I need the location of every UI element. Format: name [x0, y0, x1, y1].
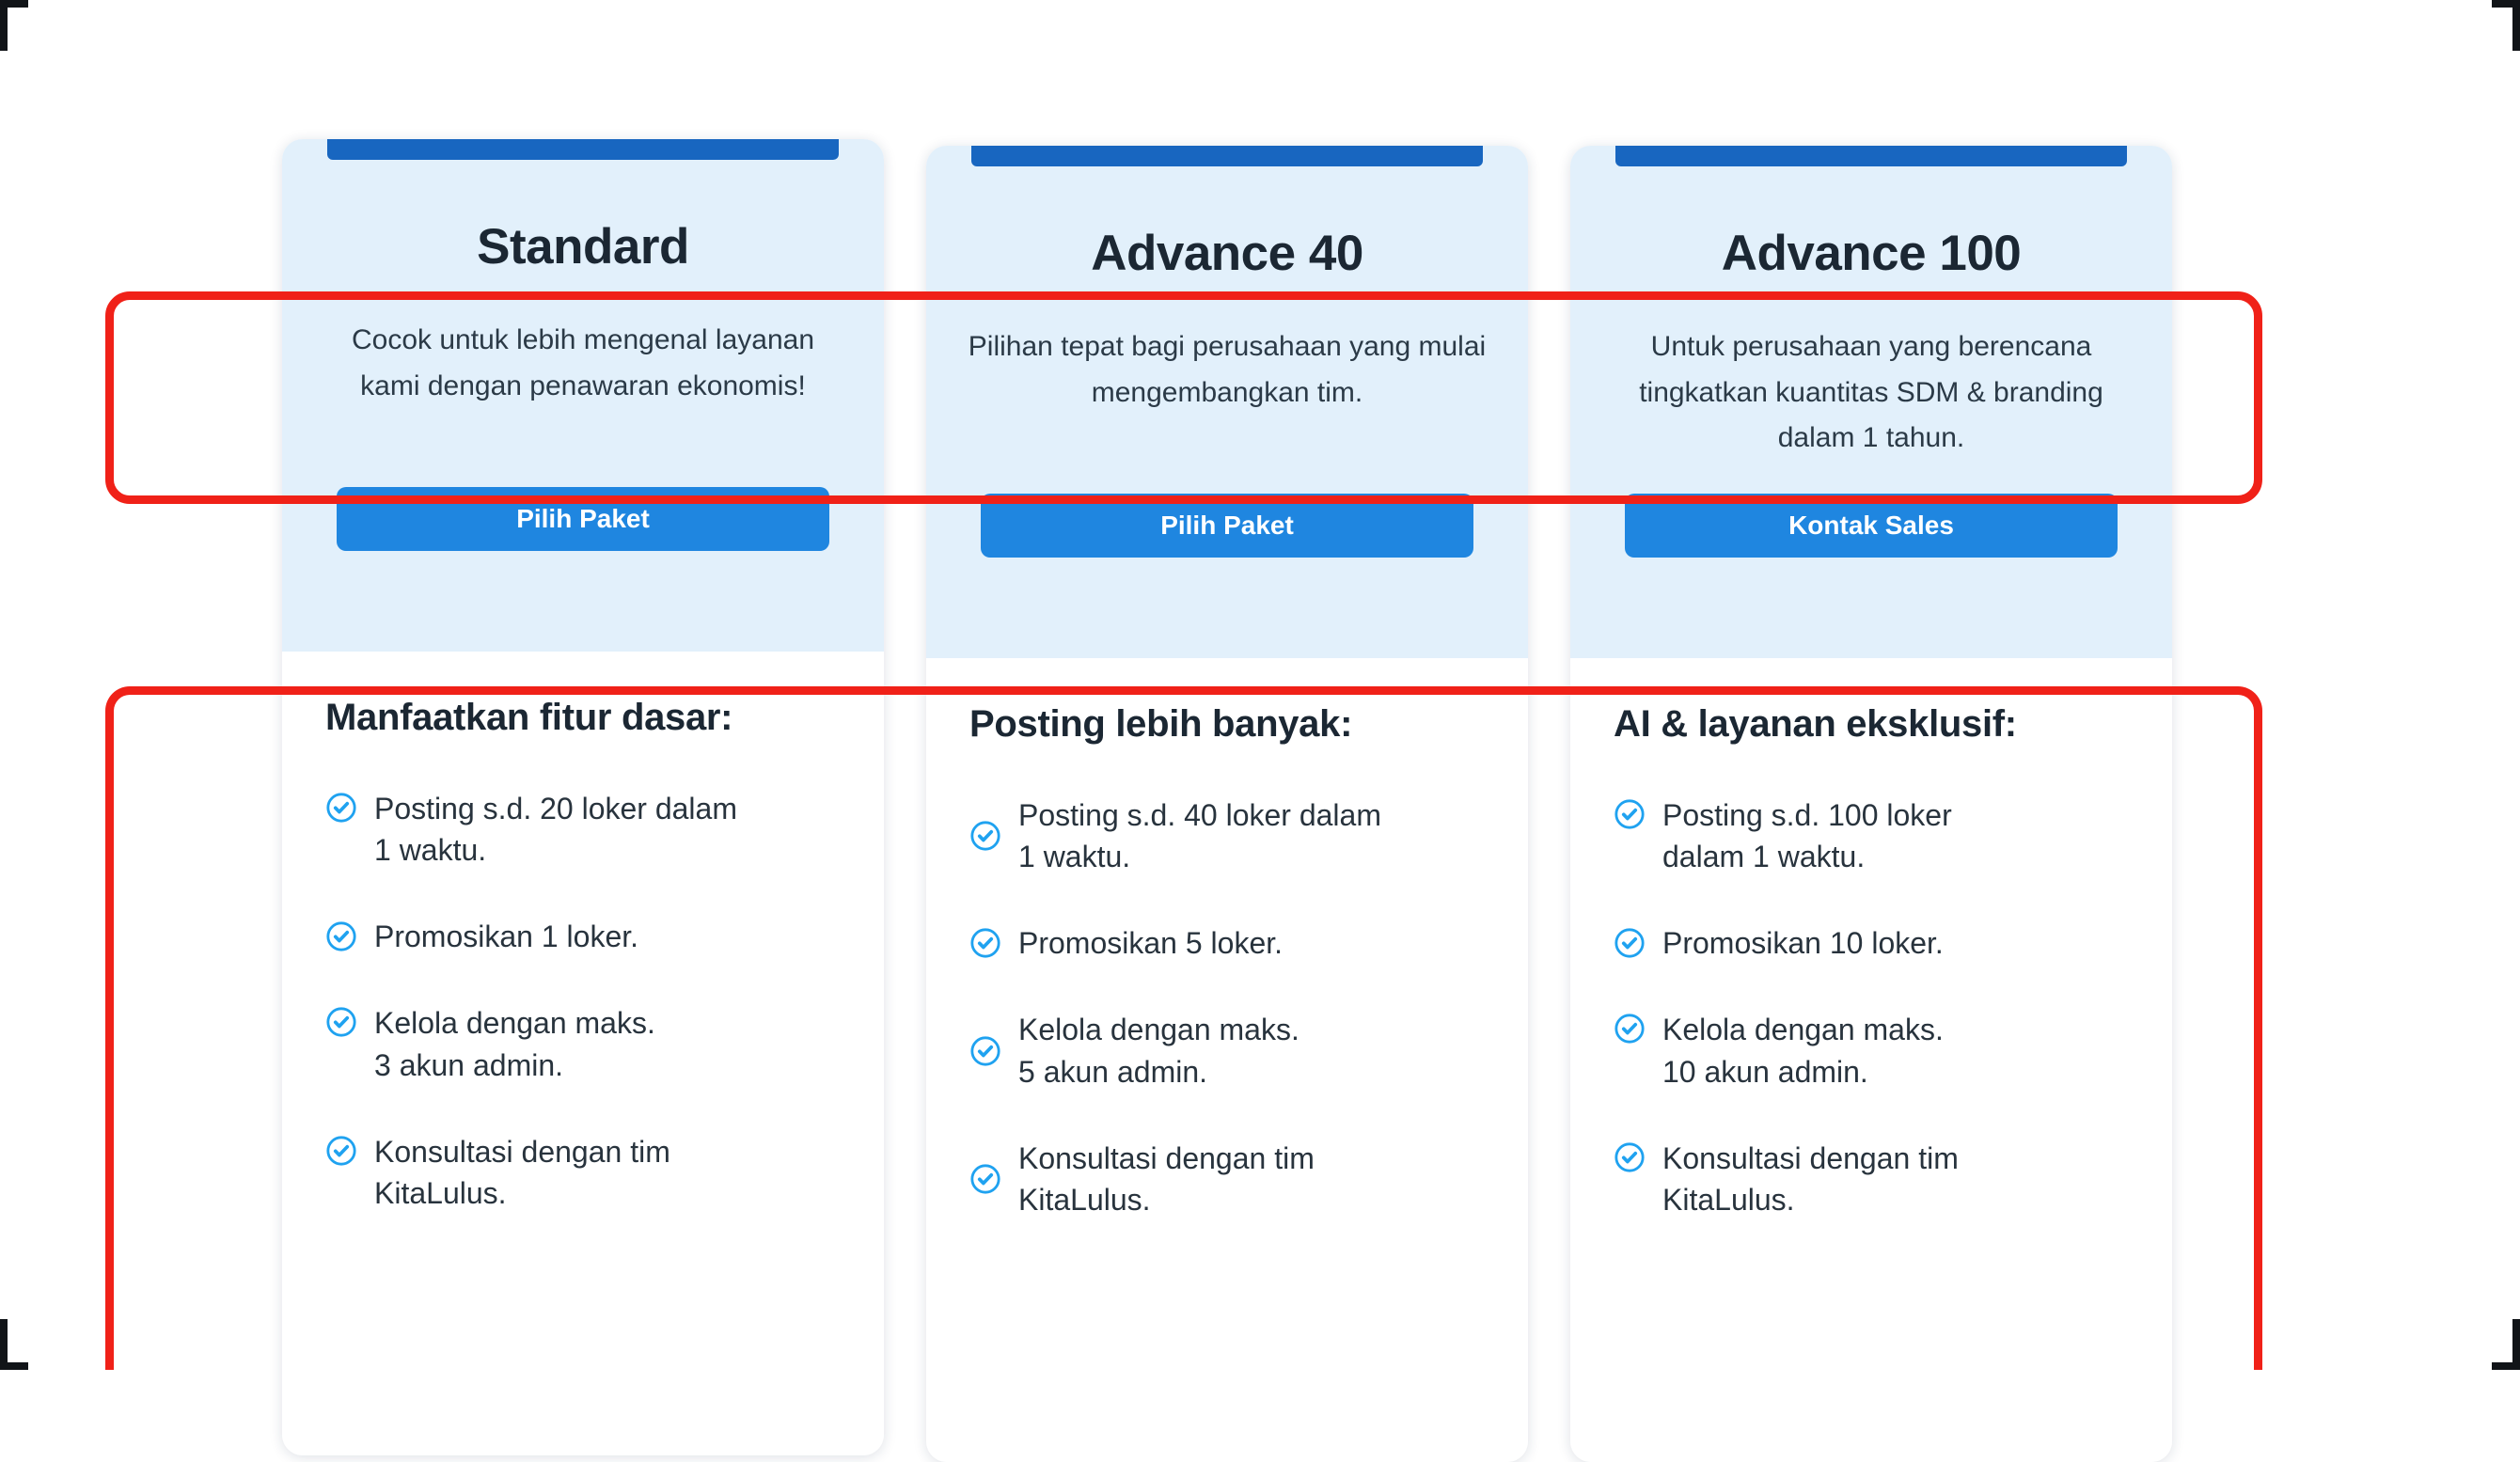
list-item: Posting s.d. 40 loker dalam 1 waktu.	[969, 794, 1485, 877]
list-item-label: Posting s.d. 20 loker dalam 1 waktu.	[374, 788, 737, 871]
plan-title: Advance 100	[1570, 225, 2172, 282]
plan-description: Pilihan tepat bagi perusahaan yang mulai…	[964, 324, 1490, 416]
check-circle-icon	[1614, 1141, 1646, 1173]
check-circle-icon	[325, 1135, 357, 1167]
pricing-plan-deck: Standard Cocok untuk lebih mengenal laya…	[0, 0, 2520, 1370]
list-item-label: Promosikan 1 loker.	[374, 916, 638, 957]
check-circle-icon	[969, 1163, 1001, 1195]
card-top-ribbon	[327, 139, 839, 160]
list-item-label: Kelola dengan maks. 10 akun admin.	[1662, 1009, 1944, 1092]
list-item-label: Konsultasi dengan tim KitaLulus.	[1018, 1138, 1315, 1220]
list-item-label: Promosikan 10 loker.	[1662, 922, 1944, 964]
features-title: Posting lebih banyak:	[969, 703, 1485, 746]
list-item: Promosikan 10 loker.	[1614, 922, 2129, 964]
plan-description: Untuk perusahaan yang berencana tingkatk…	[1608, 324, 2134, 462]
list-item: Posting s.d. 20 loker dalam 1 waktu.	[325, 788, 841, 871]
contact-sales-button[interactable]: Kontak Sales	[1625, 494, 2118, 558]
list-item-label: Konsultasi dengan tim KitaLulus.	[1662, 1138, 1959, 1220]
features-title: AI & layanan eksklusif:	[1614, 703, 2129, 746]
check-circle-icon	[969, 1035, 1001, 1067]
list-item: Konsultasi dengan tim KitaLulus.	[1614, 1138, 2129, 1220]
list-item: Kelola dengan maks. 3 akun admin.	[325, 1002, 841, 1085]
list-item: Kelola dengan maks. 10 akun admin.	[1614, 1009, 2129, 1092]
features-list: Posting s.d. 40 loker dalam 1 waktu. Pro…	[969, 794, 1485, 1220]
card-top-ribbon	[1615, 146, 2127, 166]
list-item: Posting s.d. 100 loker dalam 1 waktu.	[1614, 794, 2129, 877]
list-item-label: Kelola dengan maks. 3 akun admin.	[374, 1002, 655, 1085]
plan-title: Advance 40	[926, 225, 1528, 282]
select-plan-button[interactable]: Pilih Paket	[337, 487, 829, 551]
plan-description: Cocok untuk lebih mengenal layanan kami …	[320, 318, 846, 409]
plan-title: Standard	[282, 218, 884, 275]
list-item: Promosikan 5 loker.	[969, 922, 1485, 964]
check-circle-icon	[969, 820, 1001, 852]
check-circle-icon	[325, 1006, 357, 1038]
check-circle-icon	[1614, 1013, 1646, 1045]
select-plan-button[interactable]: Pilih Paket	[981, 494, 1473, 558]
check-circle-icon	[969, 927, 1001, 959]
list-item: Konsultasi dengan tim KitaLulus.	[969, 1138, 1485, 1220]
list-item: Konsultasi dengan tim KitaLulus.	[325, 1131, 841, 1214]
list-item-label: Posting s.d. 100 loker dalam 1 waktu.	[1662, 794, 1952, 877]
list-item: Promosikan 1 loker.	[325, 916, 841, 957]
features-title: Manfaatkan fitur dasar:	[325, 697, 841, 739]
card-body: Manfaatkan fitur dasar: Posting s.d. 20 …	[282, 652, 884, 1455]
list-item-label: Konsultasi dengan tim KitaLulus.	[374, 1131, 670, 1214]
check-circle-icon	[1614, 798, 1646, 830]
card-top-ribbon	[971, 146, 1483, 166]
pricing-card-standard[interactable]: Standard Cocok untuk lebih mengenal laya…	[282, 139, 884, 1455]
list-item-label: Promosikan 5 loker.	[1018, 922, 1283, 964]
features-list: Posting s.d. 20 loker dalam 1 waktu. Pro…	[325, 788, 841, 1214]
check-circle-icon	[325, 920, 357, 952]
list-item: Kelola dengan maks. 5 akun admin.	[969, 1009, 1485, 1092]
check-circle-icon	[1614, 927, 1646, 959]
pricing-card-advance-100[interactable]: Advance 100 Untuk perusahaan yang berenc…	[1570, 146, 2172, 1462]
card-body: AI & layanan eksklusif: Posting s.d. 100…	[1570, 658, 2172, 1462]
list-item-label: Kelola dengan maks. 5 akun admin.	[1018, 1009, 1299, 1092]
pricing-card-advance-40[interactable]: Advance 40 Pilihan tepat bagi perusahaan…	[926, 146, 1528, 1462]
features-list: Posting s.d. 100 loker dalam 1 waktu. Pr…	[1614, 794, 2129, 1220]
check-circle-icon	[325, 792, 357, 824]
card-body: Posting lebih banyak: Posting s.d. 40 lo…	[926, 658, 1528, 1462]
list-item-label: Posting s.d. 40 loker dalam 1 waktu.	[1018, 794, 1381, 877]
